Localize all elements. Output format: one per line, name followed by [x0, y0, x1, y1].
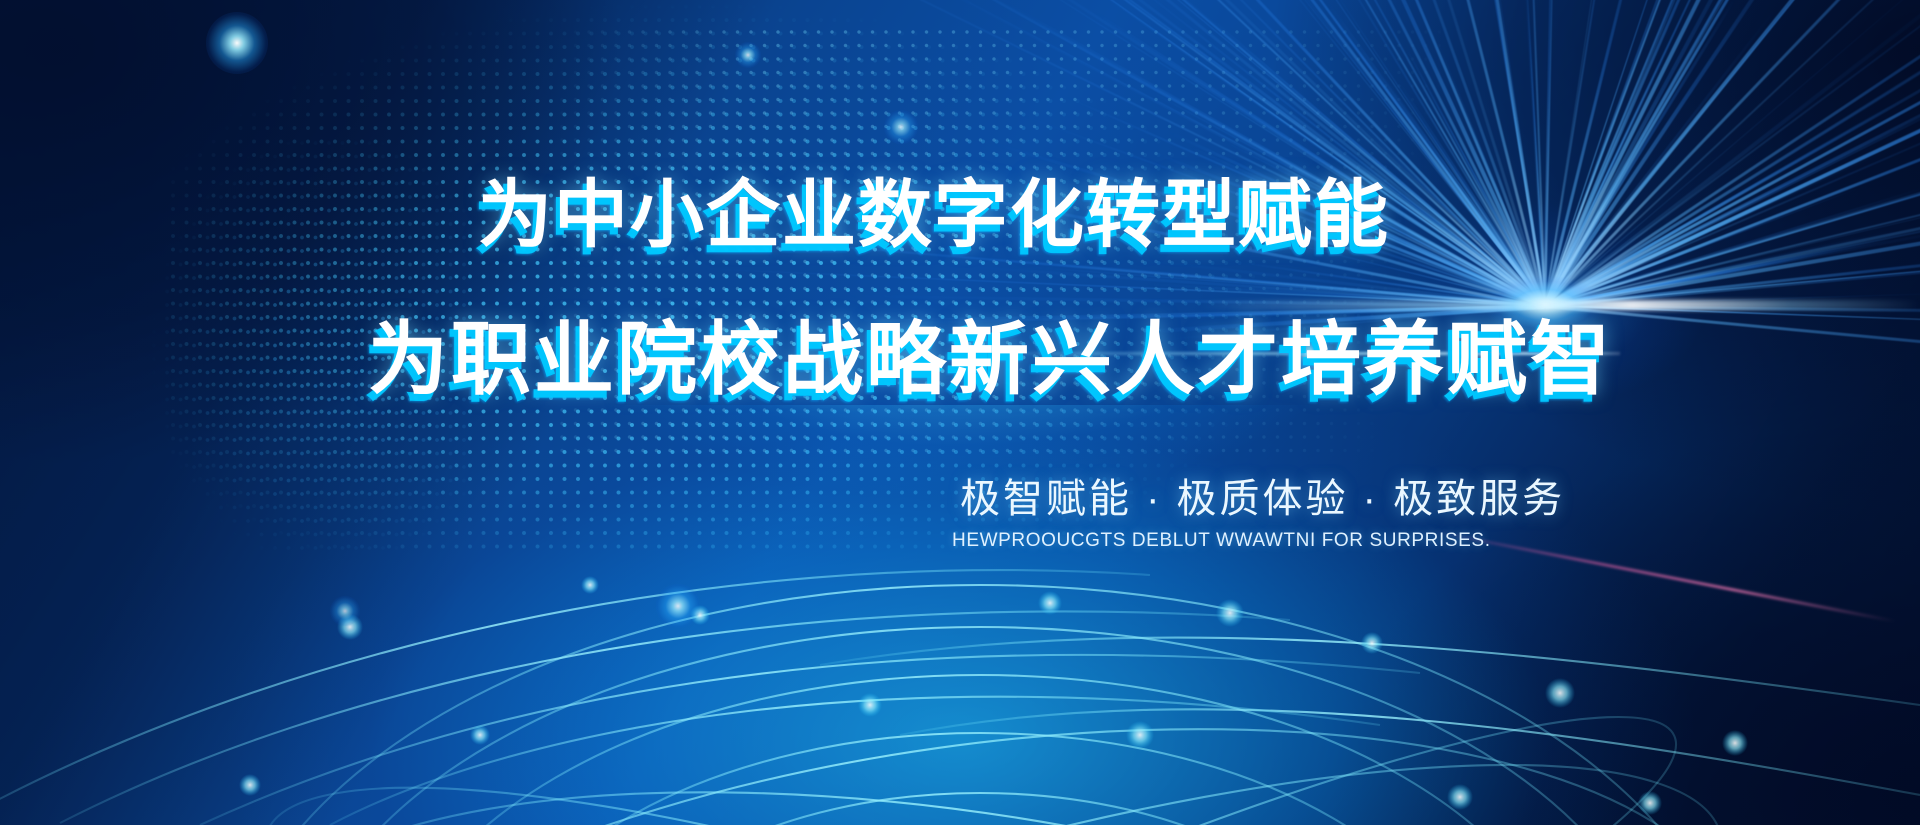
headline-line-1: 为中小企业数字化转型赋能 — [478, 178, 1390, 252]
light-burst-horizontal-streak — [1200, 300, 1920, 310]
banner-tagline-english: HEWPROOUCGTS DEBLUT WWAWTNI FOR SURPRISE… — [952, 530, 1491, 552]
hero-banner: 为中小企业数字化转型赋能 为职业院校战略新兴人才培养赋智 极智赋能 · 极质体验… — [0, 0, 1920, 825]
headline-line-2: 为职业院校战略新兴人才培养赋智 — [368, 320, 1613, 400]
banner-subtitle: 极智赋能 · 极质体验 · 极致服务 — [960, 466, 1565, 524]
